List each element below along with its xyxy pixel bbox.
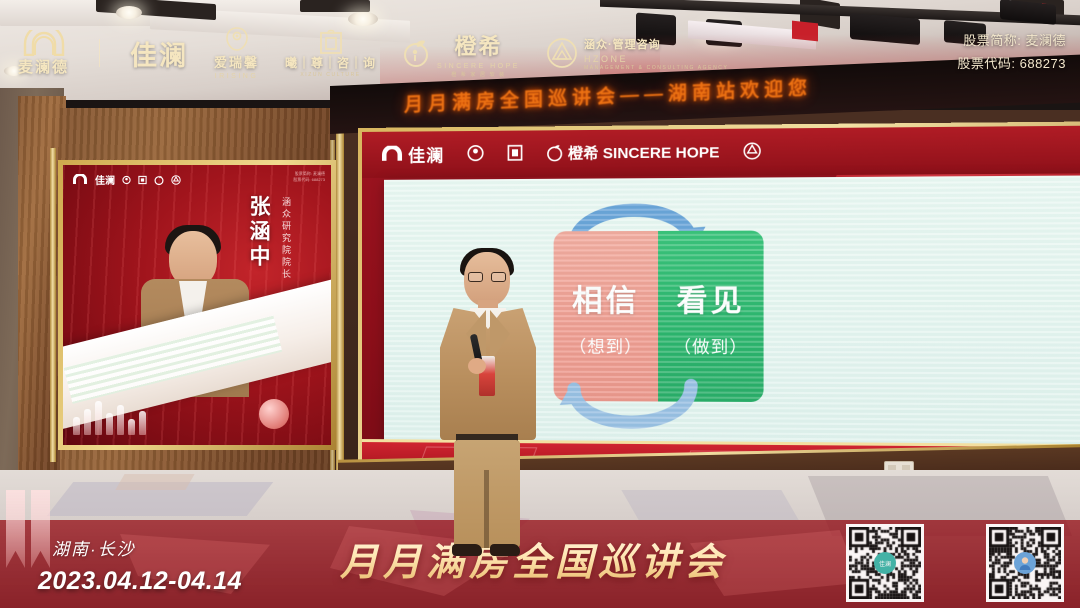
irising-face-icon <box>223 26 251 52</box>
gold-trim <box>336 120 344 480</box>
brand-label-en: SINCERE HOPE <box>437 63 520 70</box>
stock-code: 股票代码: 688273 <box>957 53 1066 76</box>
arch-logo-icon <box>380 146 404 162</box>
slide-logo-row: 佳澜 <box>380 141 761 164</box>
brand-logo-hzone: 涵众·管理咨询 HZONE MANAGEMENT & CONSULTING AG… <box>546 36 729 71</box>
poster-product-silhouettes <box>73 401 146 435</box>
irising-face-icon <box>466 144 484 162</box>
poster-logo-row: 佳澜 <box>72 172 181 187</box>
box-title: 看见 <box>677 275 745 320</box>
slide-logo-irising <box>466 143 484 163</box>
floor-pattern <box>621 490 798 520</box>
stock-name: 股票简称: 麦澜德 <box>957 30 1066 53</box>
qr-code-jialan[interactable]: 佳澜 <box>846 524 924 602</box>
box-subtitle: （做到） <box>673 332 747 358</box>
ribbon-decoration-icon <box>6 490 50 568</box>
brand-label-en: HZONE <box>584 54 628 64</box>
brand-logo-chengxi: 橙希 SINCERE HOPE 橙 希 家 居 软 装 <box>402 29 520 78</box>
ceiling-recess <box>300 0 370 12</box>
orange-fruit-icon <box>402 38 432 68</box>
speaker-hand <box>468 358 486 374</box>
slide-logo-label: 佳澜 <box>408 141 444 166</box>
box-subtitle: （想到） <box>569 332 643 357</box>
poster-corner-note: 股票简称: 麦澜德 股票代码: 688273 <box>293 171 325 183</box>
arch-logo-icon <box>72 174 88 185</box>
brand-label-en: XIZUN CULTURE <box>300 72 360 78</box>
poster-speaker-name: 张涵中 <box>243 195 273 270</box>
speaker-shoe <box>452 544 482 556</box>
xizun-seal-icon <box>318 28 344 54</box>
floor-pattern <box>115 474 194 490</box>
conference-photo: 月月满房全国巡讲会——湖南站欢迎您 佳澜 <box>0 0 1080 608</box>
brand-label: 佳澜 <box>130 34 188 73</box>
avatar-icon <box>1017 555 1033 571</box>
brand-logo-jialan: 佳澜 <box>130 34 188 73</box>
ceiling-downlight <box>348 12 378 26</box>
orange-fruit-icon <box>545 143 563 161</box>
logo-divider <box>99 39 100 67</box>
hzone-triangle-icon <box>171 175 181 185</box>
event-location: 湖南·长沙 <box>52 535 136 560</box>
slide-logo-chengxi: 橙希 SINCERE HOPE <box>545 141 719 163</box>
stock-info: 股票简称: 麦澜德 股票代码: 688273 <box>957 30 1066 76</box>
xizun-seal-icon <box>138 175 147 185</box>
poster-logo-label: 佳澜 <box>95 172 115 187</box>
speaker-poster-frame: 佳澜 股票简称: 麦澜德 股票代码: 688273 <box>58 160 336 450</box>
orange-fruit-icon <box>154 175 164 185</box>
brand-label: 橙希 <box>454 29 502 61</box>
qr-center-logo: 佳澜 <box>874 552 896 574</box>
arch-logo-icon <box>22 30 66 56</box>
slide-logo-xizun <box>507 143 523 163</box>
speaker-person <box>432 252 552 552</box>
poster-speaker-title: 涵众研究院院长 <box>280 197 293 281</box>
slide-logo-jialan: 佳澜 <box>380 143 444 164</box>
ceiling-downlight <box>116 6 142 19</box>
hzone-triangle-icon <box>742 142 761 161</box>
gold-trim <box>50 148 56 462</box>
slide-logo-label: 橙希 SINCERE HOPE <box>568 141 720 163</box>
arrow-bottom-icon <box>556 377 710 449</box>
brand-label: 曦｜尊｜咨｜询 <box>285 54 376 71</box>
poster-stock-code: 股票代码: 688273 <box>293 177 325 183</box>
brand-logo-irising: 爱瑞馨 IRISING <box>214 26 259 80</box>
brand-label: 涵众·管理咨询 <box>584 36 661 52</box>
speaker-leg-split <box>484 470 489 548</box>
qr-code-avatar[interactable] <box>986 524 1064 602</box>
irising-face-icon <box>122 175 131 185</box>
brand-label-sub: MANAGEMENT & CONSULTING AGENCY <box>584 65 729 71</box>
brand-label: 爱瑞馨 <box>214 52 259 71</box>
box-title: 相信 <box>572 275 640 320</box>
xizun-seal-icon <box>507 144 523 162</box>
brand-logo-xizun: 曦｜尊｜咨｜询 XIZUN CULTURE <box>285 28 376 78</box>
qr-center-avatar <box>1014 552 1036 574</box>
qr-code-group: 佳澜 <box>846 524 1064 602</box>
brand-label-en: IRISING <box>215 73 259 80</box>
overlay-brand-logos: 麦澜德 佳澜 爱瑞馨 IRISING 曦｜尊｜咨｜询 XIZUN CULTURE <box>18 26 728 80</box>
glasses-icon <box>468 272 506 282</box>
event-dates: 2023.04.12-04.14 <box>38 567 242 596</box>
brand-label: 麦澜德 <box>18 56 69 77</box>
brand-logo-mailande: 麦澜德 <box>18 30 69 77</box>
speaker-poster: 佳澜 股票简称: 麦澜德 股票代码: 688273 <box>63 165 331 445</box>
speaker-shoe <box>490 544 520 556</box>
brand-label-sub: 橙 希 家 居 软 装 <box>451 71 506 78</box>
poster-sphere <box>259 399 289 429</box>
hzone-triangle-icon <box>546 37 578 69</box>
slide-logo-hzone <box>742 141 761 162</box>
